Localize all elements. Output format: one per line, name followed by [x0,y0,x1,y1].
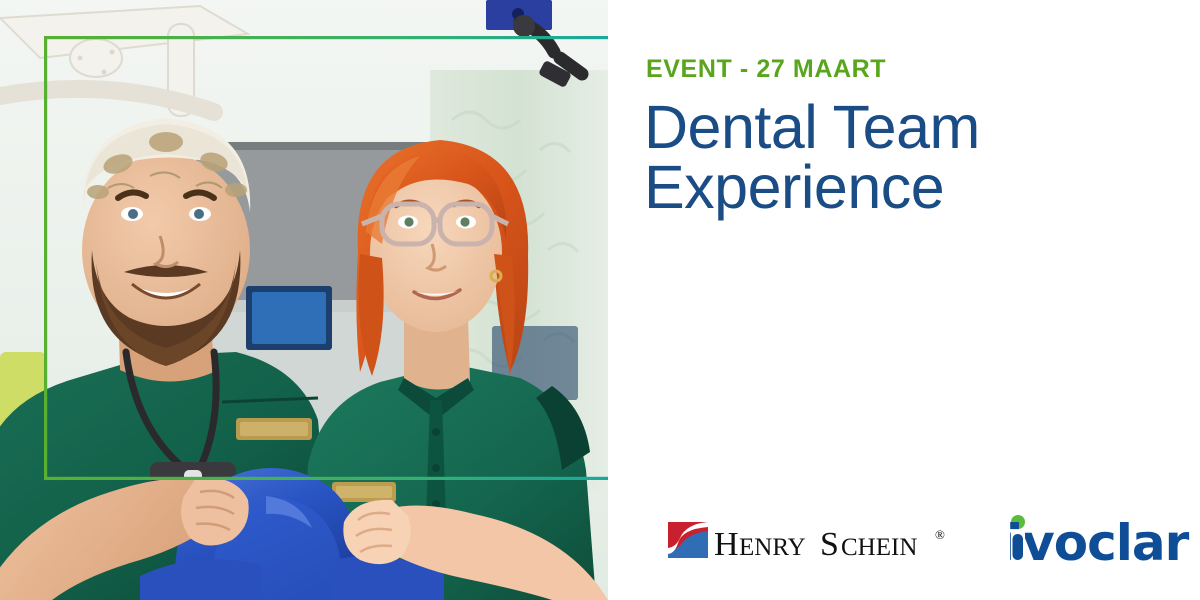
sponsor-logo-row: H ENRY S CHEIN ® ivoclar [668,505,1192,575]
henry-schein-h: H [714,526,739,563]
henry-schein-chein: CHEIN [841,534,917,561]
headline-line-2: Experience [644,158,1174,218]
henry-schein-logo: H ENRY S CHEIN ® [668,517,980,563]
henry-schein-enry: ENRY [739,534,806,561]
ivoclar-logo: ivoclar [1006,512,1192,568]
event-date-eyebrow: EVENT - 27 MAART [646,55,886,84]
event-photo [0,0,608,600]
henry-schein-mark [668,522,708,558]
clinic-photo-illustration [0,0,608,600]
content-panel: EVENT - 27 MAART Dental Team Experience … [608,0,1200,600]
page-title: Dental Team Experience [644,98,1174,218]
headline-line-1: Dental Team [644,98,1174,158]
ivoclar-wordmark: ivoclar [1006,514,1190,568]
event-banner: EVENT - 27 MAART Dental Team Experience … [0,0,1200,600]
registered-trademark-icon: ® [935,527,945,542]
henry-schein-s: S [820,526,839,563]
